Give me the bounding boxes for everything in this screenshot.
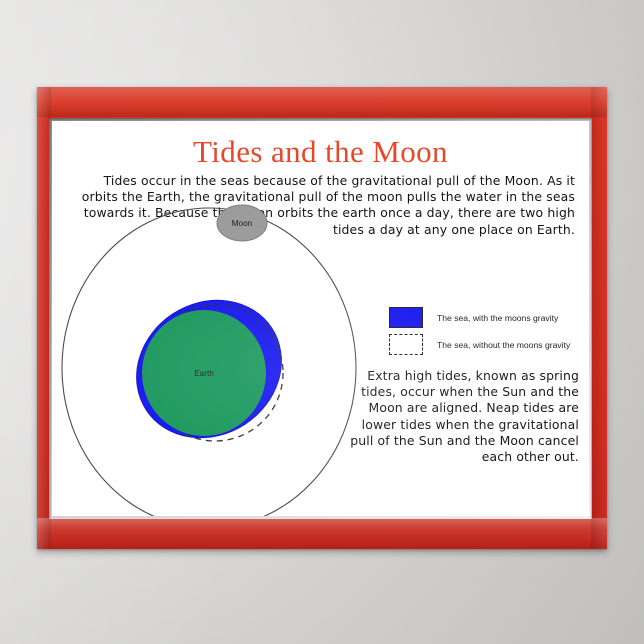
lower-paragraph: Extra high tides, known as spring tides,… <box>347 368 579 465</box>
moon-label: Moon <box>232 219 253 228</box>
legend-label-sea-with-gravity: The sea, with the moons gravity <box>437 313 558 323</box>
legend-swatch-dashed-icon <box>389 334 423 355</box>
legend: The sea, with the moons gravity The sea,… <box>389 304 589 358</box>
poster-scene: Tides and the Moon Tides occur in the se… <box>0 0 644 644</box>
earth-label: Earth <box>194 369 214 378</box>
legend-item-sea-without-gravity: The sea, without the moons gravity <box>389 331 589 358</box>
legend-label-sea-without-gravity: The sea, without the moons gravity <box>437 340 570 350</box>
poster-paper: Tides and the Moon Tides occur in the se… <box>52 121 589 516</box>
page-title: Tides and the Moon <box>52 134 589 170</box>
legend-swatch-solid-icon <box>389 307 423 328</box>
poster-content: Tides and the Moon Tides occur in the se… <box>52 121 589 516</box>
framed-poster: Tides and the Moon Tides occur in the se… <box>37 87 607 549</box>
tides-diagram: Earth Moon <box>57 201 402 516</box>
legend-item-sea-with-gravity: The sea, with the moons gravity <box>389 304 589 331</box>
